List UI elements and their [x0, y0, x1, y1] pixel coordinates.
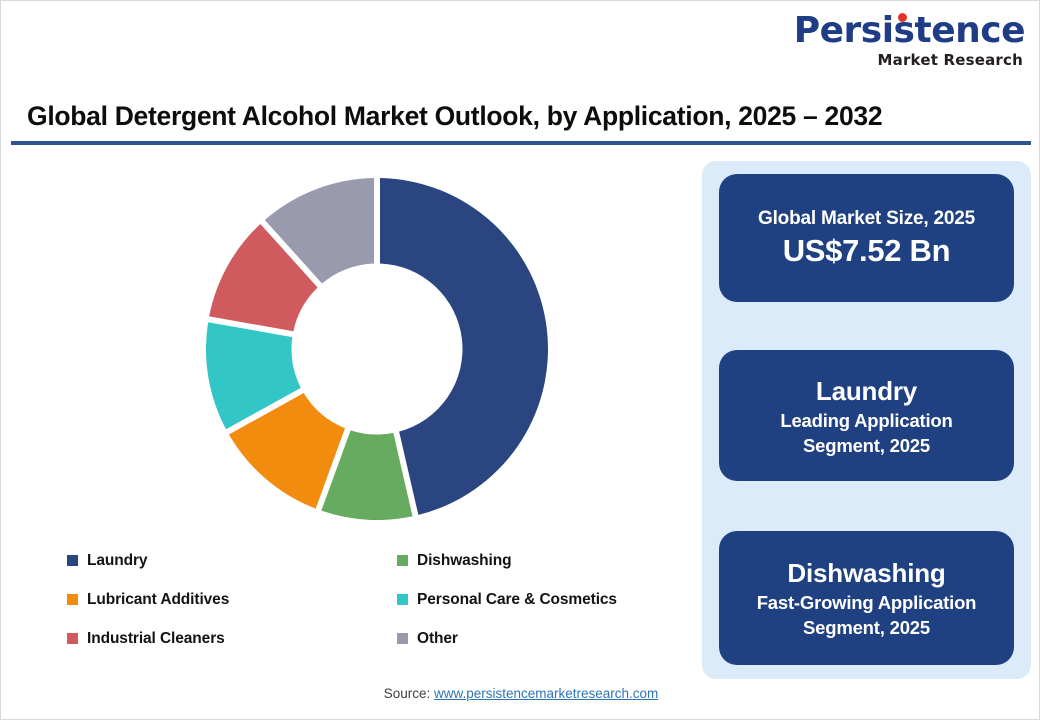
infographic-page: Persistence Market Research Global Deter… [0, 0, 1040, 720]
market-size-label: Global Market Size, 2025 [758, 206, 975, 231]
legend-item: Lubricant Additives [67, 591, 397, 609]
legend-label: Laundry [87, 552, 147, 570]
card-leading-segment: Laundry Leading Application Segment, 202… [719, 350, 1014, 481]
title-underline-rule [11, 141, 1031, 145]
legend-item: Personal Care & Cosmetics [397, 591, 687, 609]
brand-logo: Persistence Market Research [767, 11, 1025, 73]
legend-label: Dishwashing [417, 552, 512, 570]
chart-legend: LaundryDishwashingLubricant AdditivesPer… [67, 541, 687, 658]
legend-label: Lubricant Additives [87, 591, 229, 609]
brand-accent-dot-icon [898, 13, 907, 22]
fast-growing-segment-line1: Fast-Growing Application [757, 590, 977, 615]
legend-label: Industrial Cleaners [87, 630, 225, 648]
legend-item: Laundry [67, 552, 397, 570]
legend-swatch-icon [397, 594, 408, 605]
leading-segment-line1: Leading Application [780, 408, 952, 433]
donut-slice: Laundry: 46.4% [380, 178, 548, 515]
legend-swatch-icon [397, 555, 408, 566]
fast-growing-segment-name: Dishwashing [787, 556, 945, 590]
legend-item: Dishwashing [397, 552, 687, 570]
legend-item: Industrial Cleaners [67, 630, 397, 648]
source-link[interactable]: www.persistencemarketresearch.com [434, 686, 658, 701]
legend-swatch-icon [67, 594, 78, 605]
donut-chart-svg: Laundry: 46.4%Dishwashing: 9.2%Lubricant… [206, 178, 548, 520]
brand-name-sub: Market Research [767, 51, 1025, 69]
donut-chart: Laundry: 46.4%Dishwashing: 9.2%Lubricant… [206, 178, 548, 520]
title-block: Global Detergent Alcohol Market Outlook,… [11, 101, 1031, 145]
page-title: Global Detergent Alcohol Market Outlook,… [11, 101, 1031, 132]
legend-swatch-icon [67, 555, 78, 566]
legend-label: Personal Care & Cosmetics [417, 591, 617, 609]
highlights-panel: Global Market Size, 2025 US$7.52 Bn Laun… [702, 161, 1031, 679]
legend-swatch-icon [67, 633, 78, 644]
leading-segment-line2: Segment, 2025 [803, 433, 930, 458]
legend-label: Other [417, 630, 458, 648]
brand-name-main-text: Persistence [794, 10, 1025, 51]
card-fast-growing-segment: Dishwashing Fast-Growing Application Seg… [719, 531, 1014, 665]
legend-item: Other [397, 630, 687, 648]
market-size-value: US$7.52 Bn [783, 231, 951, 271]
card-market-size: Global Market Size, 2025 US$7.52 Bn [719, 174, 1014, 302]
fast-growing-segment-line2: Segment, 2025 [803, 615, 930, 640]
source-footer: Source: www.persistencemarketresearch.co… [1, 686, 1040, 701]
brand-name-main: Persistence [794, 11, 1025, 51]
legend-swatch-icon [397, 633, 408, 644]
leading-segment-name: Laundry [816, 374, 917, 408]
donut-slice-group: Laundry: 46.4%Dishwashing: 9.2%Lubricant… [206, 178, 548, 520]
source-prefix: Source: [384, 686, 434, 701]
